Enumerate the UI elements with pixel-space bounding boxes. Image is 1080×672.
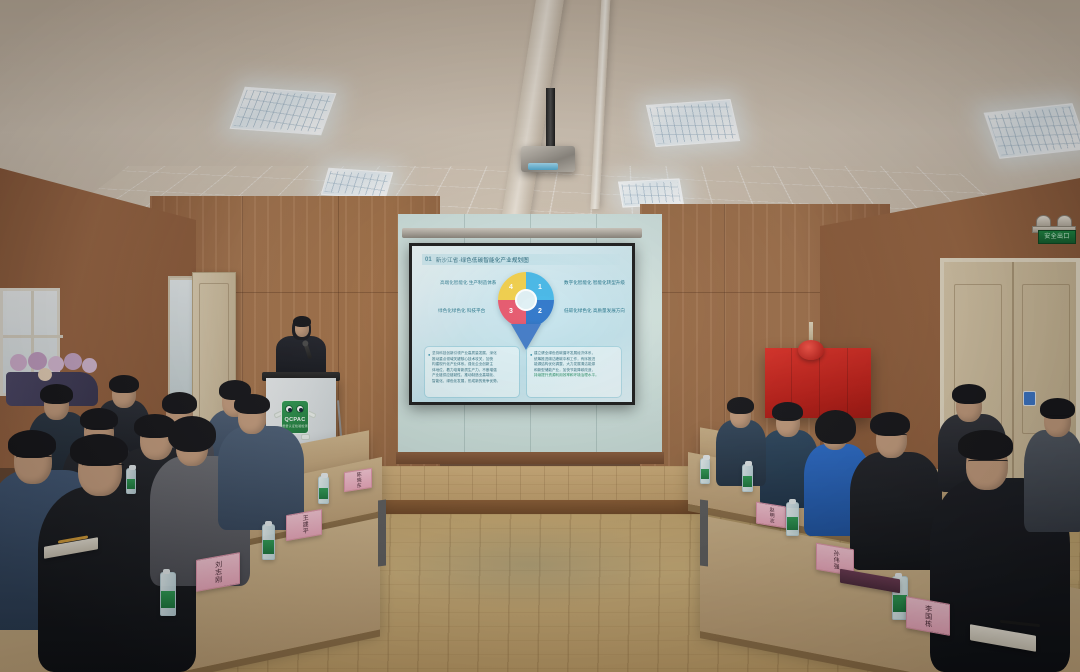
donut-segment-number: 1 bbox=[538, 284, 542, 291]
water-bottle[interactable] bbox=[318, 476, 329, 504]
projection-screen-roller bbox=[402, 228, 642, 238]
slide-text-box: ● 坚持科技创新引领产业高质量发展，深化 推动重点领域关键核心技术攻关，加快 构… bbox=[424, 346, 520, 398]
conference-room-photo: 安全出口 01 新沙江省·绿色低碳智能化产业规划图 1 2 3 4 高端化智能化… bbox=[0, 0, 1080, 672]
ceiling-light-panel-icon bbox=[230, 87, 337, 136]
water-bottle[interactable] bbox=[700, 458, 710, 484]
projection-screen: 01 新沙江省·绿色低碳智能化产业规划图 1 2 3 4 高端化智能化 生产制造… bbox=[409, 243, 635, 405]
exit-sign: 安全出口 bbox=[1038, 230, 1076, 244]
projector-icon bbox=[521, 146, 575, 172]
slide-surface: 01 新沙江省·绿色低碳智能化产业规划图 1 2 3 4 高端化智能化 生产制造… bbox=[412, 246, 632, 402]
slide-donut-chart bbox=[498, 272, 554, 328]
water-bottle[interactable] bbox=[160, 572, 176, 616]
stage-platform bbox=[376, 466, 721, 504]
projector-lens bbox=[528, 163, 558, 170]
name-placard-text: 孙伟强 bbox=[832, 549, 838, 570]
ceiling-light-panel-icon bbox=[984, 103, 1080, 159]
donut-segment-number: 4 bbox=[509, 284, 513, 291]
slide-label-left-top: 高端化智能化 生产制造体系 bbox=[440, 280, 496, 287]
donut-segment-number: 2 bbox=[538, 308, 542, 315]
mascot-leg bbox=[301, 434, 310, 440]
name-placard-text: 刘志刚 bbox=[214, 560, 221, 584]
water-bottle[interactable] bbox=[262, 524, 275, 560]
slide-bullet-icon: ● bbox=[428, 352, 430, 357]
ribbon-flower-icon bbox=[798, 340, 824, 360]
table-leg bbox=[378, 499, 386, 566]
slide-body-line: 持续提升资源利用效率和环境治理水平。 bbox=[534, 373, 617, 379]
slide-title-bar: 01 新沙江省·绿色低碳智能化产业规划图 bbox=[422, 254, 620, 265]
mascot-eye-icon bbox=[296, 405, 304, 413]
slide-body-line: 智能化、绿色化发展，形成新的竞争优势。 bbox=[432, 379, 515, 385]
water-bottle[interactable] bbox=[126, 468, 136, 494]
exit-sign-label: 安全出口 bbox=[1044, 234, 1070, 240]
slide-title-number: 01 bbox=[425, 257, 432, 263]
slide-label-right-top: 数字化智能化 智能化转型升级 bbox=[564, 280, 625, 287]
ceiling-light-panel-icon bbox=[646, 99, 740, 147]
stage-front-face bbox=[376, 500, 721, 514]
slide-text-box: ● 建立健全绿色低碳循环发展经济体系， 统筹推进碳达峰碳中和工作，有序推进 能源… bbox=[526, 346, 622, 398]
water-bottle[interactable] bbox=[742, 464, 753, 492]
ceiling-light-panel-icon bbox=[321, 168, 393, 200]
mascot-name: QCPAC bbox=[281, 417, 309, 423]
mascot-eye-icon bbox=[285, 405, 293, 413]
presenter-hair bbox=[293, 316, 311, 327]
slide-label-right-bottom: 低碳化绿色化 高质量发展方向 bbox=[564, 308, 625, 315]
name-placard: 赵明志 bbox=[756, 502, 786, 529]
water-bottle[interactable] bbox=[786, 502, 799, 536]
name-placard-text: 王建平 bbox=[301, 515, 307, 536]
projector-mount-rod bbox=[546, 88, 555, 148]
slide-title-text: 新沙江省·绿色低碳智能化产业规划图 bbox=[436, 256, 529, 264]
name-placard-text: 赵明志 bbox=[768, 506, 773, 523]
baseboard bbox=[396, 452, 664, 464]
slide-label-left-bottom: 绿色化绿色化 科技平台 bbox=[438, 308, 485, 315]
table-leg bbox=[700, 499, 708, 566]
slide-bullet-icon: ● bbox=[530, 352, 532, 357]
donut-segment-number: 3 bbox=[509, 308, 513, 315]
name-placard-text: 陈晓东 bbox=[355, 471, 360, 488]
door-notice-plate-icon bbox=[1023, 391, 1036, 406]
name-placard-text: 李国栋 bbox=[924, 604, 931, 628]
